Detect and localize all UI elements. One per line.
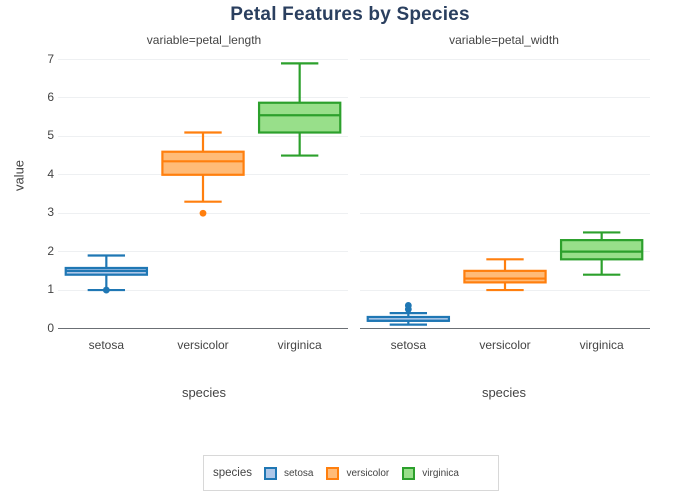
legend-item-label: setosa — [284, 468, 313, 479]
legend-item-virginica[interactable]: virginica — [402, 467, 459, 480]
box-petal_width-versicolor — [464, 259, 545, 290]
legend-item-setosa[interactable]: setosa — [264, 467, 313, 480]
legend-item-label: versicolor — [346, 468, 389, 479]
box-petal_length-versicolor — [162, 133, 243, 217]
outlier-point — [200, 210, 207, 217]
box-petal_length-setosa — [66, 255, 147, 293]
legend-item-versicolor[interactable]: versicolor — [326, 467, 389, 480]
legend-swatch-icon — [402, 467, 415, 480]
outlier-point — [103, 287, 110, 294]
box-body — [464, 271, 545, 283]
box-body — [162, 152, 243, 175]
boxplot-canvas — [0, 0, 700, 500]
chart-root: Petal Features by Species variable=petal… — [0, 0, 700, 500]
legend: species setosaversicolorvirginica — [203, 455, 499, 491]
box-petal_width-virginica — [561, 232, 642, 274]
box-petal_length-virginica — [259, 63, 340, 155]
legend-item-label: virginica — [422, 468, 459, 479]
legend-swatch-icon — [264, 467, 277, 480]
legend-swatch-icon — [326, 467, 339, 480]
box-body — [259, 103, 340, 133]
box-body — [561, 240, 642, 259]
box-petal_width-setosa — [368, 302, 449, 325]
legend-title: species — [213, 467, 252, 479]
outlier-point — [405, 302, 412, 309]
